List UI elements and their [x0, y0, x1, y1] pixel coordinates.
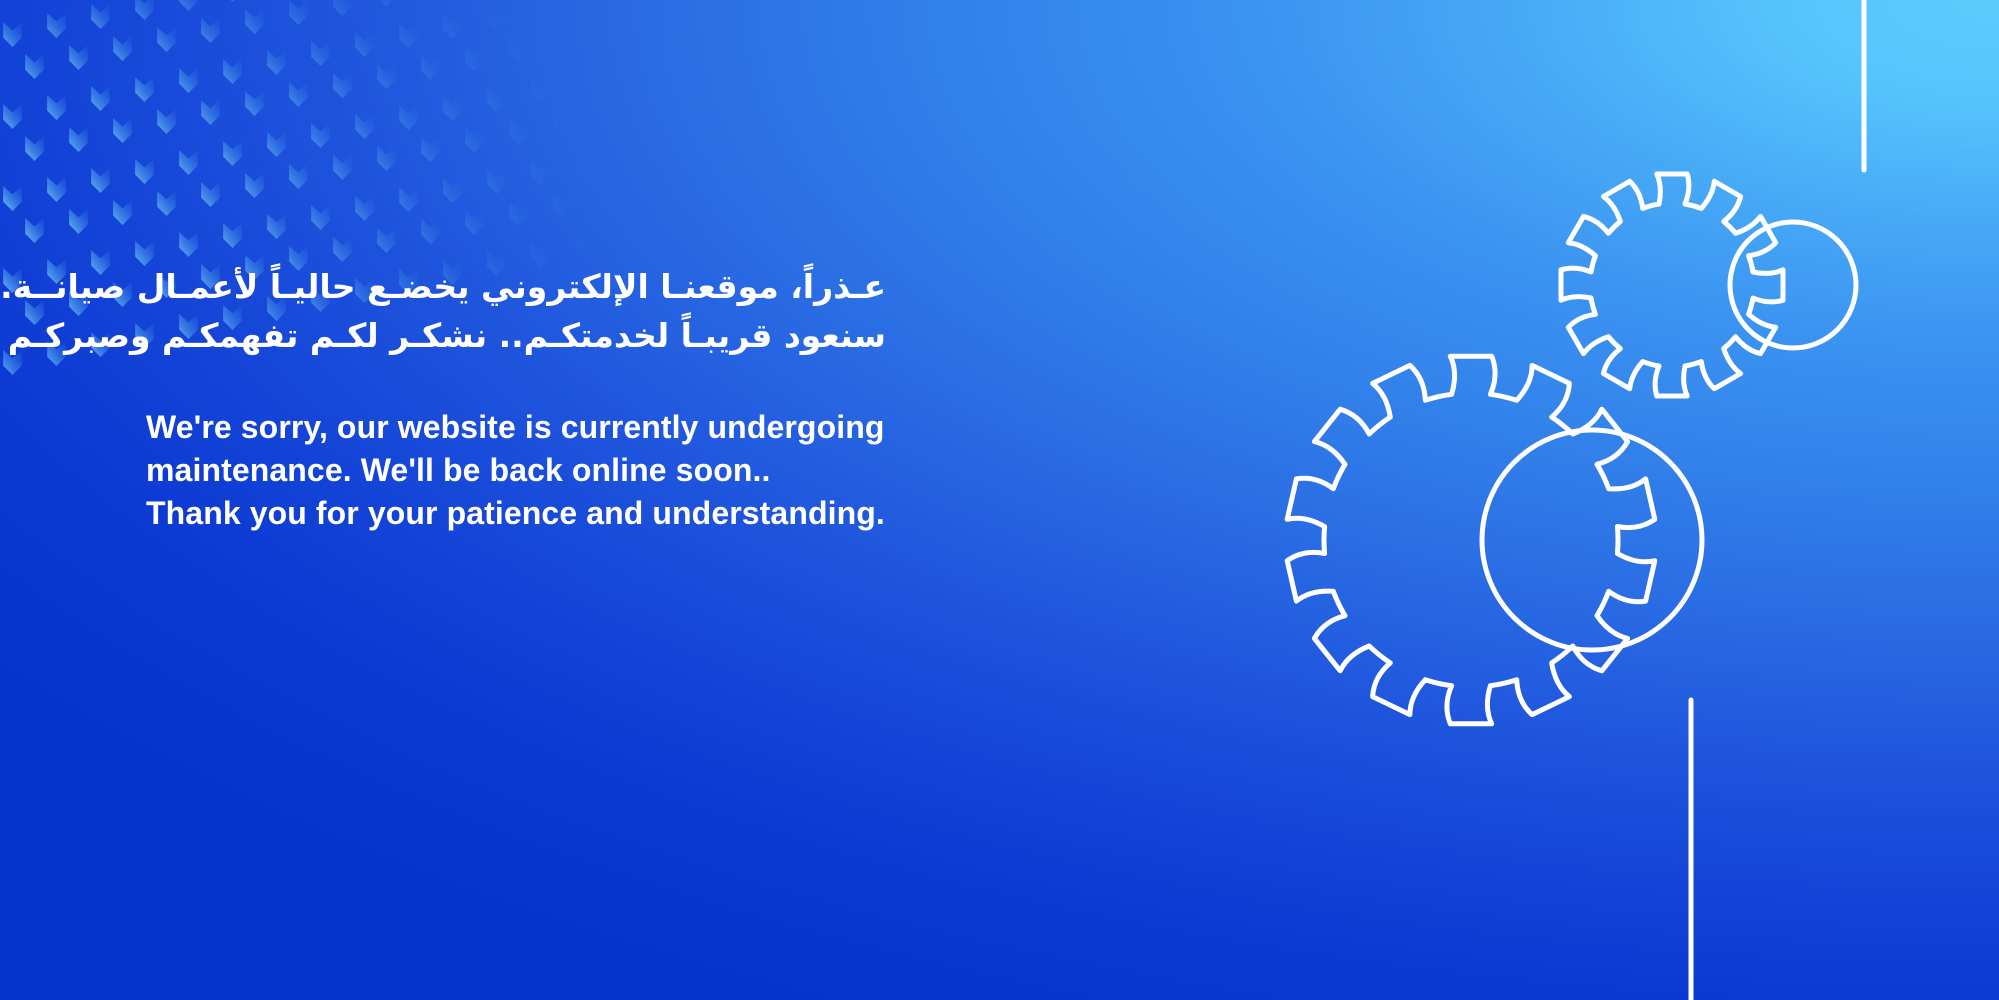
english-line-1: We're sorry, our website is currently un… [146, 406, 1006, 449]
large-gear [1287, 356, 1655, 724]
english-line-3: Thank you for your patience and understa… [146, 492, 1006, 535]
small-gear [1561, 174, 1783, 396]
arabic-line-1: عـذراً، موقعنـا الإلكتروني يخضـع حاليـاً… [146, 262, 886, 311]
english-line-2: maintenance. We'll be back online soon.. [146, 449, 1006, 492]
message-block: عـذراً، موقعنـا الإلكتروني يخضـع حاليـاً… [146, 262, 1006, 535]
small-gear-hub [1730, 222, 1856, 348]
arabic-message: عـذراً، موقعنـا الإلكتروني يخضـع حاليـاً… [146, 262, 886, 360]
gear-illustration [1239, 0, 1999, 1000]
english-message: We're sorry, our website is currently un… [146, 406, 1006, 535]
large-gear-hub [1482, 430, 1702, 650]
maintenance-page: عـذراً، موقعنـا الإلكتروني يخضـع حاليـاً… [0, 0, 1999, 1000]
arabic-line-2: سنعود قريبـاً لخدمتكـم.. نشكـر لكـم تفهم… [146, 311, 886, 360]
